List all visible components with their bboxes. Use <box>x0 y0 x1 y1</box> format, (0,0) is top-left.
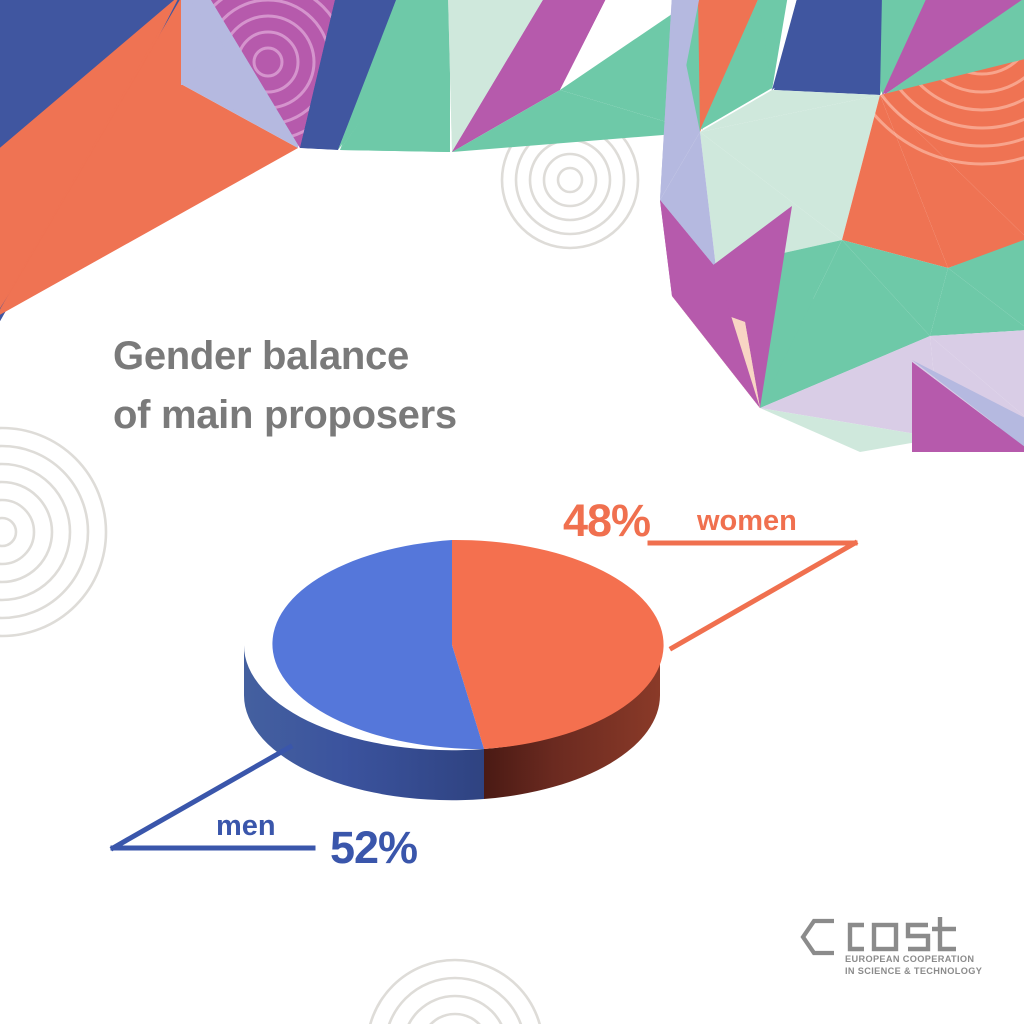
cost-logo-tagline: EUROPEAN COOPERATION IN SCIENCE & TECHNO… <box>845 953 982 977</box>
cost-hexagon-icon <box>803 921 834 953</box>
callout-line-men <box>113 747 313 848</box>
pie-value-label-women: 48% <box>563 495 650 547</box>
pie-category-label-men: men <box>216 810 276 843</box>
cost-wordmark <box>850 917 956 949</box>
callout-line-women <box>650 543 855 648</box>
pie-chart <box>0 0 1024 1024</box>
pie-value-label-men: 52% <box>330 822 417 874</box>
pie-category-label-women: women <box>697 505 797 538</box>
infographic-canvas: Gender balance of main proposers <box>0 0 1024 1024</box>
